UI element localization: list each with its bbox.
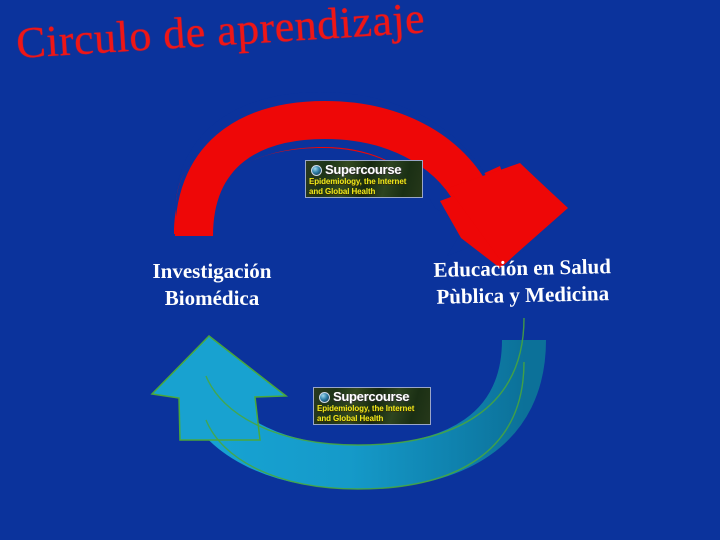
supercourse-tagline-bottom: Epidemiology, the Internet and Global He… (317, 404, 423, 424)
label-left-line2: Biomédica (112, 285, 312, 312)
tagline-line2-top: and Global Health (309, 187, 415, 197)
supercourse-brand-top: Supercourse (325, 162, 401, 177)
tagline-line2-bottom: and Global Health (317, 414, 423, 424)
slide-canvas: Circulo de aprendizaje (0, 0, 720, 540)
supercourse-brand-bottom: Supercourse (333, 389, 409, 404)
globe-icon (319, 392, 330, 403)
label-left-line1: Investigación (112, 258, 312, 285)
supercourse-tagline-top: Epidemiology, the Internet and Global He… (309, 177, 415, 197)
globe-icon (311, 165, 322, 176)
supercourse-logo-top: Supercourse Epidemiology, the Internet a… (305, 160, 423, 198)
tagline-line1-top: Epidemiology, the Internet (309, 177, 415, 187)
label-investigacion-biomedica: Investigación Biomédica (112, 258, 312, 312)
label-right-line2: Pùblica y Medicina (400, 279, 646, 311)
label-educacion-salud: Educación en Salud Pùblica y Medicina (399, 252, 645, 311)
tagline-line1-bottom: Epidemiology, the Internet (317, 404, 423, 414)
supercourse-logo-bottom: Supercourse Epidemiology, the Internet a… (313, 387, 431, 425)
